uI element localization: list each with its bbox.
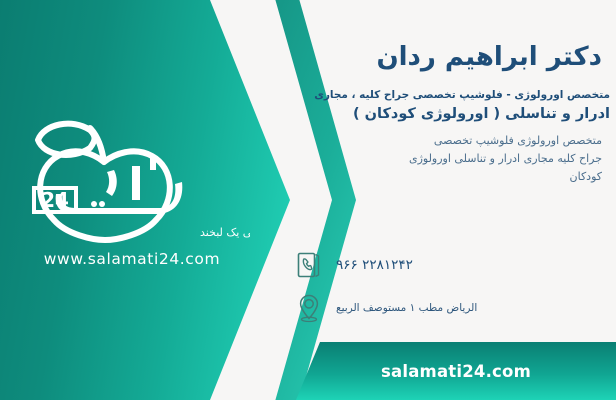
contact-phone-row[interactable]: ۲۲۸۱۲۴۲ ۹۶۶ bbox=[296, 250, 602, 280]
footer-website[interactable]: salamati24.com bbox=[381, 362, 531, 381]
specialty-secondary-line-2: جراح کلیه مجاری ادرار و تناسلی اورولوژی bbox=[296, 150, 602, 168]
phone-number[interactable]: ۲۲۸۱۲۴۲ ۹۶۶ bbox=[336, 257, 413, 273]
location-pin-icon bbox=[296, 293, 322, 323]
specialty-primary-line-2: ادرار و تناسلی ( اورولوژی کودکان ) bbox=[288, 104, 610, 126]
logo-badge-text: 24 bbox=[41, 188, 69, 212]
brand-logo: 24 به راحتی یک لبخند www.salamati24.com bbox=[14, 108, 250, 278]
specialty-secondary: متخصص اورولوژی فلوشیپ تخصصی جراح کلیه مج… bbox=[296, 132, 602, 186]
contact-address-row[interactable]: الرياض مطب ١ مستوصف الربيع bbox=[296, 293, 602, 323]
phone-book-icon bbox=[296, 250, 322, 280]
specialty-secondary-line-3: کودکان bbox=[296, 168, 602, 186]
logo-tagline: به راحتی یک لبخند bbox=[200, 226, 250, 239]
specialty-primary-line-1: متخصص اورولوژی - فلوشیپ تخصصی جراح کلیه … bbox=[288, 88, 610, 104]
logo-website-url: www.salamati24.com bbox=[14, 250, 250, 268]
business-card: 24 به راحتی یک لبخند www.salamati24.com … bbox=[0, 0, 616, 400]
specialty-primary: متخصص اورولوژی - فلوشیپ تخصصی جراح کلیه … bbox=[288, 88, 610, 126]
footer-bar: salamati24.com bbox=[296, 342, 616, 400]
specialty-secondary-line-1: متخصص اورولوژی فلوشیپ تخصصی bbox=[296, 132, 602, 150]
profile-content: دکتر ابراهیم ردان متخصص اورولوژی - فلوشی… bbox=[286, 0, 616, 400]
clinic-address[interactable]: الرياض مطب ١ مستوصف الربيع bbox=[336, 302, 477, 314]
apple-logo-icon: 24 به راحتی یک لبخند bbox=[14, 108, 250, 248]
doctor-name: دکتر ابراهیم ردان bbox=[300, 42, 602, 73]
